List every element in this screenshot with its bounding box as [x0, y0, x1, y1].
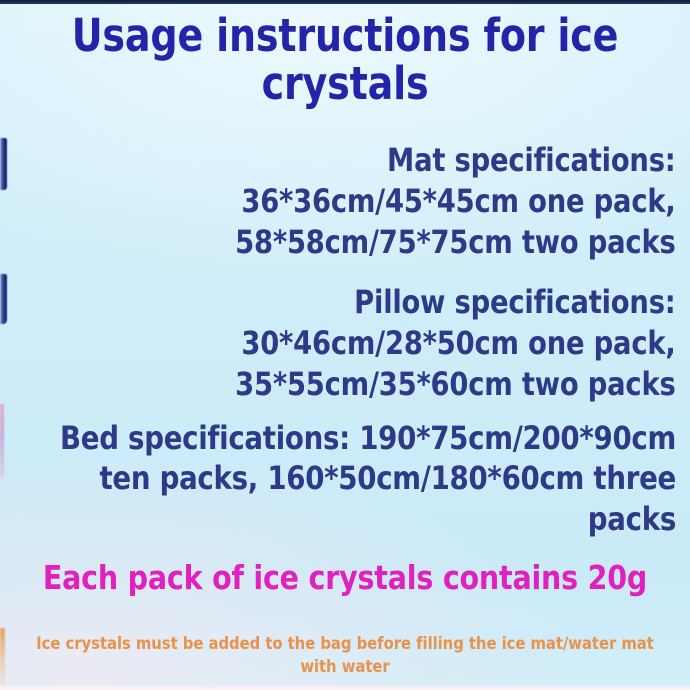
- mat-specifications-block: Mat specifications: 36*36cm/45*45cm one …: [236, 140, 676, 263]
- poster-canvas: Usage instructions for ice crystals Mat …: [0, 0, 690, 690]
- pack-weight-highlight: Each pack of ice crystals contains 20g: [14, 558, 676, 598]
- pillow-specifications-block: Pillow specifications: 30*46cm/28*50cm o…: [236, 282, 676, 405]
- bottom-border-strip: [0, 685, 690, 690]
- bed-specifications-block: Bed specifications: 190*75cm/200*90cm te…: [35, 418, 676, 539]
- clipped-glyph-fragment-pillow: [0, 274, 7, 324]
- page-title: Usage instructions for ice crystals: [21, 12, 670, 108]
- clipped-glyph-fragment-orange: [0, 628, 5, 684]
- usage-footnote: Ice crystals must be added to the bag be…: [18, 632, 672, 679]
- clipped-glyph-fragment-pink: [0, 404, 4, 478]
- top-border-strip: [0, 0, 690, 4]
- clipped-glyph-fragment-mat: [0, 138, 7, 190]
